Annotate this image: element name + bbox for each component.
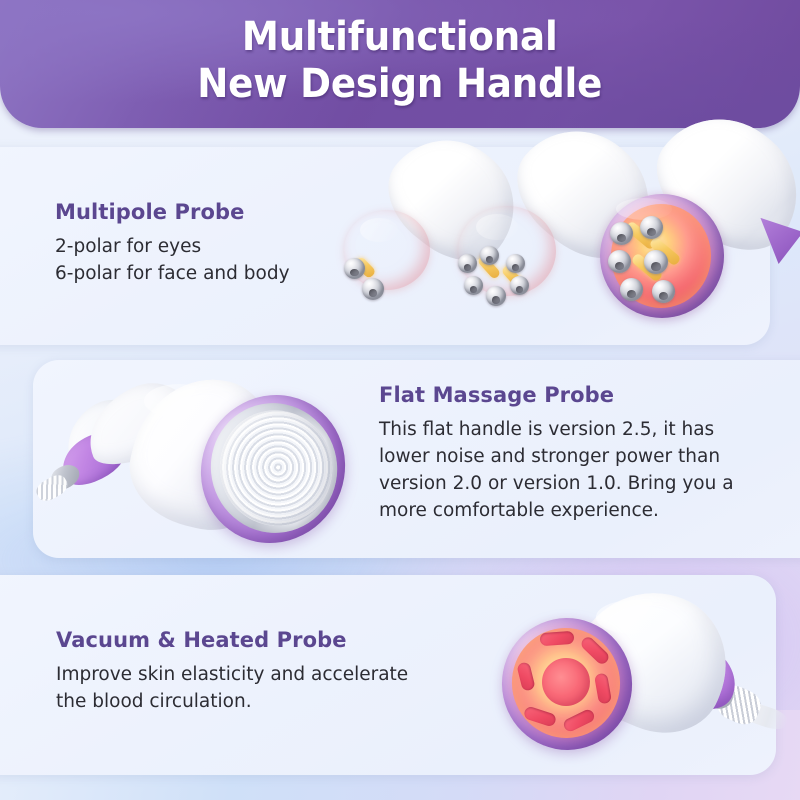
flat-massage-probe-text: Flat Massage Probe This flat handle is v… bbox=[379, 383, 739, 524]
multipole-probe-desc-line-1: 2-polar for eyes bbox=[55, 233, 355, 260]
electrode-ball bbox=[362, 278, 384, 300]
flat-massage-probe-desc-line-3: version 2.0 or version 1.0. Bring you a bbox=[379, 470, 739, 497]
vacuum-heated-probe-desc-line-1: Improve skin elasticity and accelerate bbox=[56, 661, 456, 688]
electrode-ball bbox=[608, 250, 631, 273]
vacuum-heated-probe-title: Vacuum & Heated Probe bbox=[56, 628, 456, 652]
electrode-ball bbox=[620, 278, 643, 301]
electrode-ball bbox=[486, 286, 506, 306]
flat-massage-probe-desc-line-4: more comfortable experience. bbox=[379, 497, 739, 524]
electrode-ball bbox=[640, 216, 663, 239]
electrode-ball bbox=[510, 276, 529, 295]
electrode-ball bbox=[652, 280, 675, 303]
infographic-page: Multifunctional New Design Handle bbox=[0, 0, 800, 800]
multipole-probe-image bbox=[330, 150, 790, 346]
vacuum-heated-probe-image bbox=[468, 588, 788, 784]
electrode-ball bbox=[644, 250, 668, 274]
electrode-ball bbox=[464, 276, 483, 295]
header-banner: Multifunctional New Design Handle bbox=[0, 0, 800, 128]
flat-massage-probe-desc-line-2: lower noise and stronger power than bbox=[379, 443, 739, 470]
electrode-ball bbox=[610, 222, 633, 245]
vacuum-heated-probe-desc-line-2: the blood circulation. bbox=[56, 688, 456, 715]
vacuum-heated-probe-text: Vacuum & Heated Probe Improve skin elast… bbox=[56, 628, 456, 715]
multipole-probe-text: Multipole Probe 2-polar for eyes 6-polar… bbox=[55, 200, 355, 287]
multipole-probe-title: Multipole Probe bbox=[55, 200, 355, 224]
header-title-line-1: Multifunctional bbox=[242, 14, 558, 61]
flat-massage-probe-image bbox=[48, 370, 378, 556]
electrode-ball bbox=[480, 246, 499, 265]
flat-massage-probe-desc-line-1: This flat handle is version 2.5, it has bbox=[379, 416, 739, 443]
header-title-line-2: New Design Handle bbox=[198, 61, 603, 108]
flat-massage-probe-title: Flat Massage Probe bbox=[379, 383, 739, 407]
electrode-ball bbox=[458, 254, 477, 273]
multipole-probe-desc-line-2: 6-polar for face and body bbox=[55, 260, 355, 287]
vacuum-slot bbox=[540, 631, 575, 646]
electrode-ball bbox=[506, 254, 525, 273]
